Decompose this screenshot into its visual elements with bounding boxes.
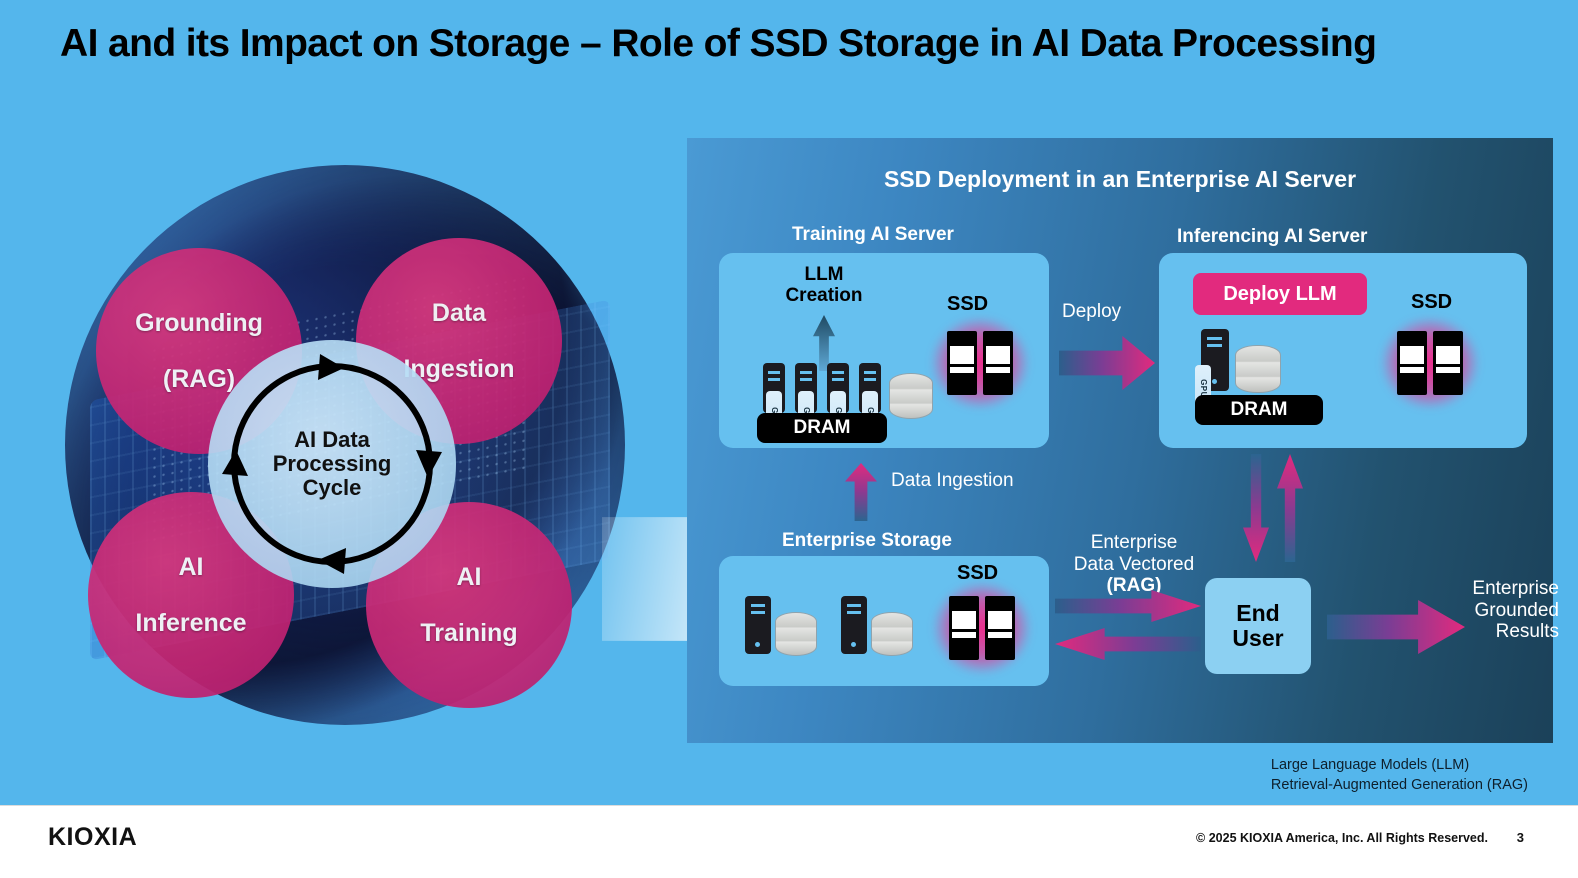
training-ssd-icon[interactable] (947, 331, 1013, 395)
llm-creation-line1: LLM (804, 264, 843, 285)
inferencing-up-arrow-icon (1277, 454, 1303, 562)
inferencing-dram-label: DRAM (1195, 395, 1323, 425)
ssd-glow (1381, 317, 1479, 409)
training-ssd-caption: SSD (947, 293, 988, 316)
copyright-text: © 2025 KIOXIA America, Inc. All Rights R… (1196, 831, 1488, 845)
enterprise-tower-2 (841, 596, 867, 654)
training-disk-stack-icon (889, 373, 933, 419)
rag-return-arrow-icon (1055, 628, 1201, 660)
panel-title: SSD Deployment in an Enterprise AI Serve… (687, 166, 1553, 193)
ssd-glow (931, 317, 1029, 409)
cycle-node-data-ingestion-line1: Data (391, 299, 526, 327)
edv-line2: Data Vectored (1074, 554, 1194, 575)
cycle-center-disc: AI Data Processing Cycle (208, 340, 456, 588)
ssd-glow (933, 582, 1031, 674)
enterprise-data-vectored-label: Enterprise Data Vectored (RAG) (1059, 532, 1209, 597)
kioxia-logo: KIOXIA (48, 823, 137, 852)
slide-canvas: AI and its Impact on Storage – Role of S… (0, 0, 1578, 878)
enterprise-disk-1 (775, 612, 817, 656)
data-ingestion-arrow-icon (845, 463, 877, 521)
cycle-node-grounding-line1: Grounding (123, 309, 275, 337)
inferencing-server-label: Inferencing AI Server (1177, 226, 1367, 248)
data-ingestion-label: Data Ingestion (891, 470, 1014, 492)
egr-line2: Grounded (1474, 600, 1559, 621)
training-server-box[interactable]: LLM Creation GPU GPU GPU (719, 253, 1049, 448)
enterprise-storage-label: Enterprise Storage (782, 530, 952, 552)
egr-line3: Results (1496, 621, 1559, 642)
enterprise-disk-2 (871, 612, 913, 656)
enterprise-tower-1 (745, 596, 771, 654)
enterprise-ssd-icon[interactable] (949, 596, 1015, 660)
enterprise-grounded-results-label: Enterprise Grounded Results (1427, 578, 1559, 643)
llm-creation-line2: Creation (785, 285, 862, 306)
end-user-line2: User (1232, 625, 1283, 651)
ssd-deployment-panel: SSD Deployment in an Enterprise AI Serve… (687, 138, 1553, 743)
inferencing-disk-stack-icon (1235, 345, 1281, 393)
cycle-node-ai-training-line2: Training (408, 619, 529, 647)
cycle-center-line3: Cycle (303, 475, 362, 500)
training-server-label: Training AI Server (792, 224, 954, 246)
end-user-box[interactable]: End User (1205, 578, 1311, 674)
ai-data-processing-cycle-graphic: Grounding (RAG) Data Ingestion AI Infere… (30, 140, 650, 760)
page-title: AI and its Impact on Storage – Role of S… (60, 22, 1540, 66)
inferencing-down-arrow-icon (1243, 454, 1269, 562)
inferencing-server-box[interactable]: Deploy LLM GPU DRAM SSD (1159, 253, 1527, 448)
slide-footer: KIOXIA © 2025 KIOXIA America, Inc. All R… (0, 805, 1578, 878)
edv-line1: Enterprise (1091, 532, 1178, 553)
llm-creation-label: LLM Creation (769, 265, 879, 306)
footnote-llm: Large Language Models (LLM) (1271, 756, 1528, 776)
footnote-block: Large Language Models (LLM) Retrieval-Au… (1271, 756, 1528, 795)
inferencing-ssd-icon[interactable] (1397, 331, 1463, 395)
deploy-arrow-icon (1059, 336, 1155, 390)
inferencing-ssd-caption: SSD (1411, 291, 1452, 314)
deploy-arrow-label: Deploy (1062, 301, 1121, 323)
egr-line1: Enterprise (1472, 578, 1559, 599)
cycle-center-line1: AI Data (294, 427, 370, 452)
end-user-line1: End (1236, 600, 1279, 626)
page-number: 3 (1517, 830, 1524, 845)
cycle-node-ai-inference-line2: Inference (123, 609, 258, 637)
enterprise-storage-box[interactable]: SSD (719, 556, 1049, 686)
cycle-center-label: AI Data Processing Cycle (273, 428, 392, 501)
deploy-llm-badge[interactable]: Deploy LLM (1193, 273, 1367, 315)
training-dram-label: DRAM (757, 413, 887, 443)
footnote-rag: Retrieval-Augmented Generation (RAG) (1271, 776, 1528, 796)
cycle-center-line2: Processing (273, 451, 392, 476)
